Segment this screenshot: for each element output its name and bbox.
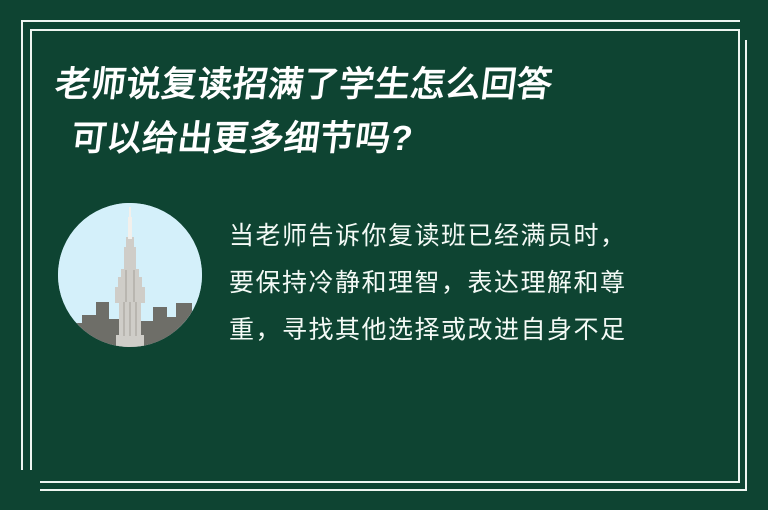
body-paragraph: 当老师告诉你复读班已经满员时，要保持冷静和理智，表达理解和尊重，寻找其他选择或改… — [229, 212, 649, 353]
page-title: 老师说复读招满了学生怎么回答 可以给出更多细节吗? — [52, 58, 712, 166]
title-line-2: 可以给出更多细节吗? — [52, 112, 719, 166]
frame-corner-mask-bottom-left — [0, 470, 40, 510]
title-line-1: 老师说复读招满了学生怎么回答 — [52, 58, 719, 112]
illustration-thumbnail — [58, 203, 202, 347]
poster-canvas: 老师说复读招满了学生怎么回答 可以给出更多细节吗? — [0, 0, 768, 510]
empire-state-building-icon — [58, 203, 202, 347]
frame-corner-mask-top-right — [740, 0, 768, 40]
